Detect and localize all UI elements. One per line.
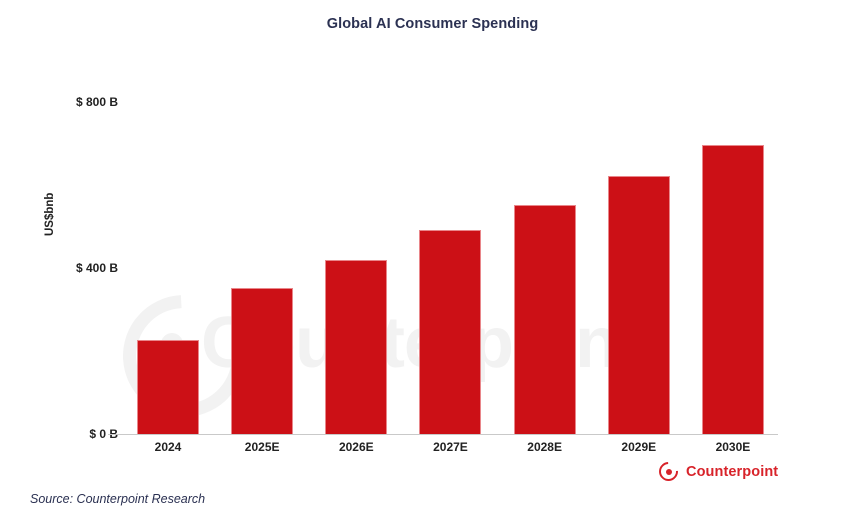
bar-series bbox=[123, 95, 778, 434]
bar-column-2027E bbox=[419, 95, 481, 434]
chart-page: Global AI Consumer Spending $ 800 B $ 40… bbox=[0, 0, 865, 528]
page-title: Global AI Consumer Spending bbox=[0, 16, 865, 32]
bar-column-2026E bbox=[325, 95, 387, 434]
bar-column-2029E bbox=[608, 95, 670, 434]
bar-2025E[interactable] bbox=[231, 288, 293, 434]
logo-dot-icon bbox=[666, 469, 672, 475]
x-tick-label-2025E: 2025E bbox=[231, 440, 293, 454]
bar-2024[interactable] bbox=[137, 340, 199, 434]
logo-text: Counterpoint bbox=[686, 464, 778, 480]
bar-column-2024 bbox=[137, 95, 199, 434]
bar-column-2025E bbox=[231, 95, 293, 434]
bar-column-2030E bbox=[702, 95, 764, 434]
bar-column-2028E bbox=[514, 95, 576, 434]
x-tick-label-2027E: 2027E bbox=[419, 440, 481, 454]
x-axis-line bbox=[108, 434, 778, 435]
counterpoint-c-mark-icon bbox=[659, 462, 678, 481]
y-axis-tick-labels: $ 800 B $ 400 B $ 0 B bbox=[0, 0, 118, 528]
x-tick-label-2030E: 2030E bbox=[702, 440, 764, 454]
bar-2029E[interactable] bbox=[608, 176, 670, 434]
source-note: Source: Counterpoint Research bbox=[30, 492, 205, 506]
x-axis-tick-labels: 2024 2025E 2026E 2027E 2028E 2029E 2030E bbox=[123, 440, 778, 454]
x-tick-label-2028E: 2028E bbox=[514, 440, 576, 454]
x-tick-label-2024: 2024 bbox=[137, 440, 199, 454]
plot-area: Counterpoint bbox=[123, 95, 778, 434]
y-tick-label-400: $ 400 B bbox=[76, 261, 118, 275]
y-axis-title: US$bnb bbox=[44, 193, 56, 236]
x-tick-label-2029E: 2029E bbox=[608, 440, 670, 454]
bar-2026E[interactable] bbox=[325, 260, 387, 434]
y-tick-label-800: $ 800 B bbox=[76, 95, 118, 109]
counterpoint-logo: Counterpoint bbox=[659, 462, 778, 481]
x-tick-label-2026E: 2026E bbox=[325, 440, 387, 454]
bar-2027E[interactable] bbox=[419, 230, 481, 434]
bar-2030E[interactable] bbox=[702, 145, 764, 434]
bar-2028E[interactable] bbox=[514, 205, 576, 434]
